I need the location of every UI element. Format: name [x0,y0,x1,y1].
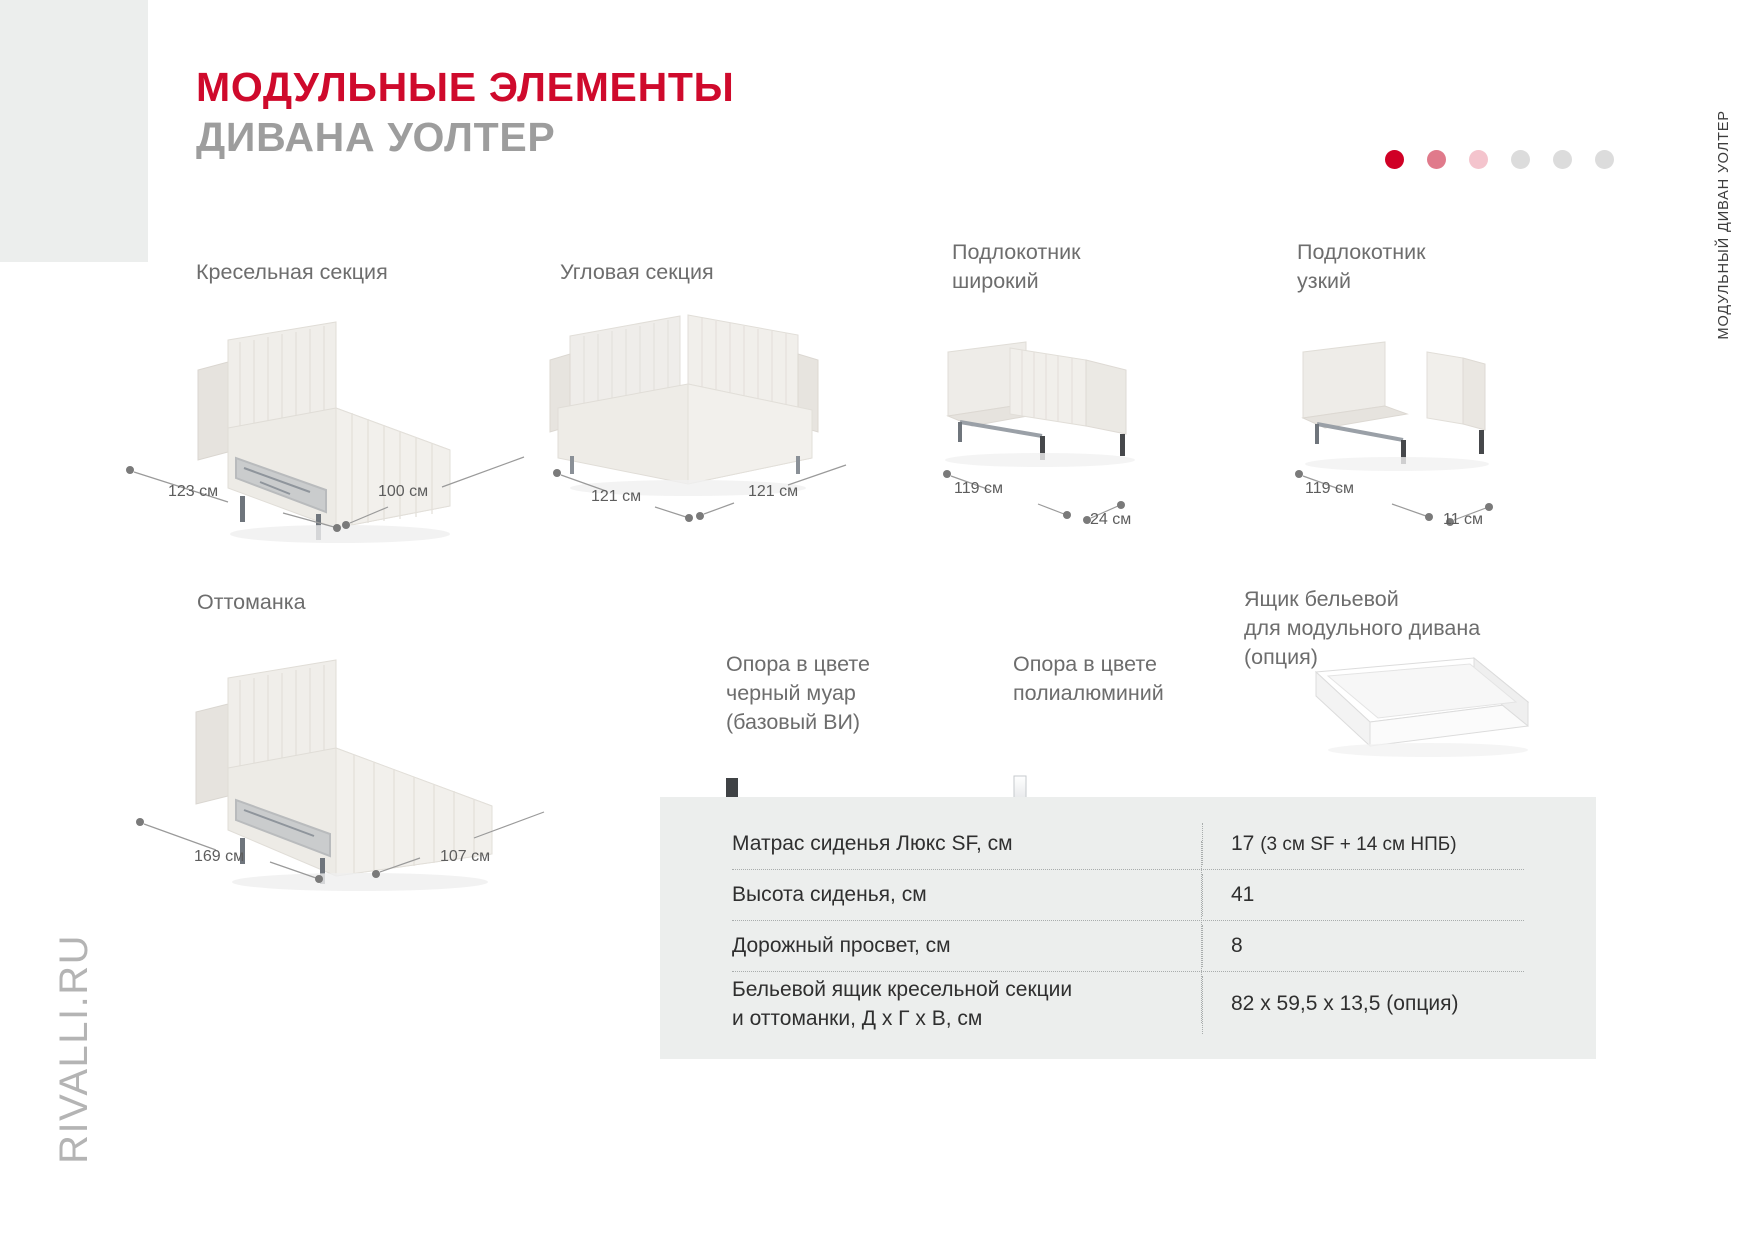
dimension-label: 119 см [1305,480,1354,498]
spec-value-main: 17 [1231,832,1254,855]
spec-cell-divider [1202,976,1203,1034]
spec-key: Матрас сиденья Люкс SF, см [732,830,1202,859]
dimension-label: 24 см [1090,511,1131,529]
product-card-corner-section: Угловая секция [560,258,900,287]
dimension-lines-ottoman [130,800,560,890]
side-label: МОДУЛЬНЫЙ ДИВАН УОЛТЕР [1716,110,1732,340]
product-card-narrow-armrest: Подлокотник узкий [1297,238,1597,296]
side-label-wrapper: МОДУЛЬНЫЙ ДИВАН УОЛТЕР [1716,110,1732,370]
spec-key: Дорожный просвет, см [732,932,1202,961]
spec-key: Высота сиденья, см [732,881,1202,910]
spec-table-inner: Матрас сиденья Люкс SF, см 17 (3 см SF +… [660,819,1596,1041]
product-label: Оттоманка [197,588,537,617]
dimension-label: 169 см [194,848,244,866]
spec-value-main: 8 [1231,934,1243,957]
product-card-ottoman: Оттоманка [197,588,537,617]
spec-table-vertical-divider [1201,841,1202,1023]
spec-value-main: 41 [1231,883,1254,906]
product-label: Опора в цвете черный муар (базовый ВИ) [726,650,1026,737]
dimension-label: 121 см [591,488,641,506]
table-row: Бельевой ящик кресельной секции и оттома… [732,972,1524,1038]
progress-dots[interactable] [1385,150,1614,169]
dimension-label: 107 см [440,848,490,866]
dimension-label: 100 см [378,483,428,501]
dimension-lines-wide-armrest [938,462,1218,542]
spec-value: 8 [1231,932,1524,961]
spec-value: 41 [1231,881,1524,910]
product-card-wide-armrest: Подлокотник широкий [952,238,1252,296]
spec-value-main: 82 x 59,5 x 13,5 (опция) [1231,992,1458,1015]
specifications-table: Матрас сиденья Люкс SF, см 17 (3 см SF +… [660,797,1596,1059]
progress-dot-6[interactable] [1595,150,1614,169]
storage-box-icon [1258,650,1548,780]
page-subtitle: ДИВАНА УОЛТЕР [196,112,735,162]
spec-value: 17 (3 см SF + 14 см НПБ) [1231,830,1524,859]
product-label: Угловая секция [560,258,900,287]
brand-watermark: RIVALLI.RU [52,934,97,1164]
spec-cell-divider [1202,823,1203,865]
spec-cell-divider [1202,925,1203,967]
dimension-label: 123 см [168,483,218,501]
brand-wrapper: RIVALLI.RU [52,934,97,1169]
table-row: Матрас сиденья Люкс SF, см 17 (3 см SF +… [732,819,1524,870]
page-root: МОДУЛЬНЫЕ ЭЛЕМЕНТЫ ДИВАНА УОЛТЕР МОДУЛЬН… [0,0,1754,1241]
dimension-label: 119 см [954,480,1003,498]
page-header: МОДУЛЬНЫЕ ЭЛЕМЕНТЫ ДИВАНА УОЛТЕР [196,62,735,162]
product-label: Подлокотник широкий [952,238,1252,296]
spec-cell-divider [1202,874,1203,916]
dimension-label: 121 см [748,483,798,501]
decorative-corner-block [0,0,148,262]
progress-dot-4[interactable] [1511,150,1530,169]
product-card-armchair-section: Кресельная секция [196,258,536,287]
page-title: МОДУЛЬНЫЕ ЭЛЕМЕНТЫ [196,62,735,112]
progress-dot-2[interactable] [1427,150,1446,169]
product-label: Подлокотник узкий [1297,238,1597,296]
dimension-lines-narrow-armrest [1290,462,1570,542]
progress-dot-5[interactable] [1553,150,1572,169]
progress-dot-3[interactable] [1469,150,1488,169]
product-card-black-leg: Опора в цвете черный муар (базовый ВИ) [726,650,1026,737]
table-row: Дорожный просвет, см 8 [732,921,1524,972]
dimension-label: 11 см [1443,511,1483,529]
product-label: Кресельная секция [196,258,536,287]
spec-key: Бельевой ящик кресельной секции и оттома… [732,976,1202,1034]
spec-value-sub: (3 см SF + 14 см НПБ) [1260,834,1456,855]
spec-value: 82 x 59,5 x 13,5 (опция) [1231,990,1524,1019]
table-row: Высота сиденья, см 41 [732,870,1524,921]
progress-dot-1[interactable] [1385,150,1404,169]
